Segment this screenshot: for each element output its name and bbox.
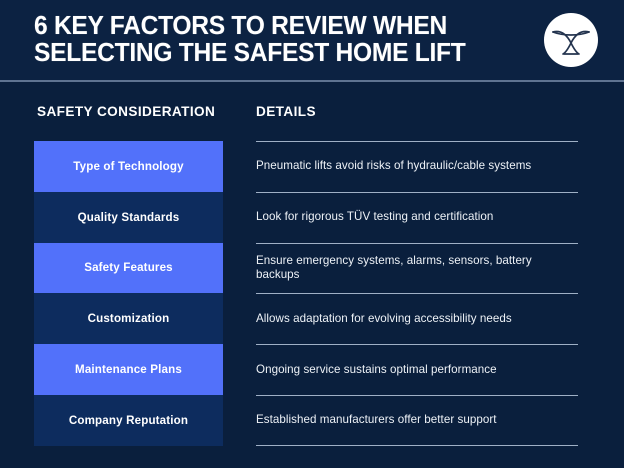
- details-cell: Pneumatic lifts avoid risks of hydraulic…: [256, 141, 578, 192]
- page-header: 6 KEY FACTORS TO REVIEW WHEN SELECTING T…: [0, 0, 624, 80]
- table-row: Maintenance PlansOngoing service sustain…: [0, 344, 624, 395]
- column-header-details: DETAILS: [256, 104, 316, 119]
- safety-consideration-cell: Quality Standards: [34, 192, 223, 243]
- detail-text: Ongoing service sustains optimal perform…: [256, 363, 501, 377]
- table-row: CustomizationAllows adaptation for evolv…: [0, 293, 624, 344]
- details-cell: Look for rigorous TÜV testing and certif…: [256, 192, 578, 243]
- detail-text: Allows adaptation for evolving accessibi…: [256, 312, 516, 326]
- row-divider: [256, 445, 578, 446]
- detail-text: Pneumatic lifts avoid risks of hydraulic…: [256, 159, 535, 173]
- detail-text: Established manufacturers offer better s…: [256, 413, 501, 427]
- brand-logo: [544, 13, 598, 67]
- row-divider: [256, 344, 578, 345]
- details-cell: Ensure emergency systems, alarms, sensor…: [256, 243, 578, 294]
- details-cell: Established manufacturers offer better s…: [256, 395, 578, 446]
- table-row: Company ReputationEstablished manufactur…: [0, 395, 624, 446]
- detail-text: Ensure emergency systems, alarms, sensor…: [256, 254, 578, 282]
- row-divider: [256, 395, 578, 396]
- table-row: Type of TechnologyPneumatic lifts avoid …: [0, 141, 624, 192]
- safety-consideration-cell: Type of Technology: [34, 141, 223, 192]
- row-divider: [256, 192, 578, 193]
- comparison-table: Type of TechnologyPneumatic lifts avoid …: [0, 141, 624, 446]
- details-cell: Ongoing service sustains optimal perform…: [256, 344, 578, 395]
- safety-consideration-cell: Company Reputation: [34, 395, 223, 446]
- header-divider: [0, 80, 624, 82]
- safety-consideration-cell: Safety Features: [34, 243, 223, 294]
- row-divider: [256, 293, 578, 294]
- table-row: Safety FeaturesEnsure emergency systems,…: [0, 243, 624, 294]
- row-divider: [256, 243, 578, 244]
- column-header-safety-consideration: SAFETY CONSIDERATION: [37, 104, 215, 119]
- detail-text: Look for rigorous TÜV testing and certif…: [256, 210, 497, 224]
- safety-consideration-cell: Maintenance Plans: [34, 344, 223, 395]
- page-title: 6 KEY FACTORS TO REVIEW WHEN SELECTING T…: [34, 13, 517, 67]
- table-row: Quality StandardsLook for rigorous TÜV t…: [0, 192, 624, 243]
- arched-crossing-lines-logo-icon: [551, 23, 591, 57]
- row-divider: [256, 141, 578, 142]
- safety-consideration-cell: Customization: [34, 293, 223, 344]
- details-cell: Allows adaptation for evolving accessibi…: [256, 293, 578, 344]
